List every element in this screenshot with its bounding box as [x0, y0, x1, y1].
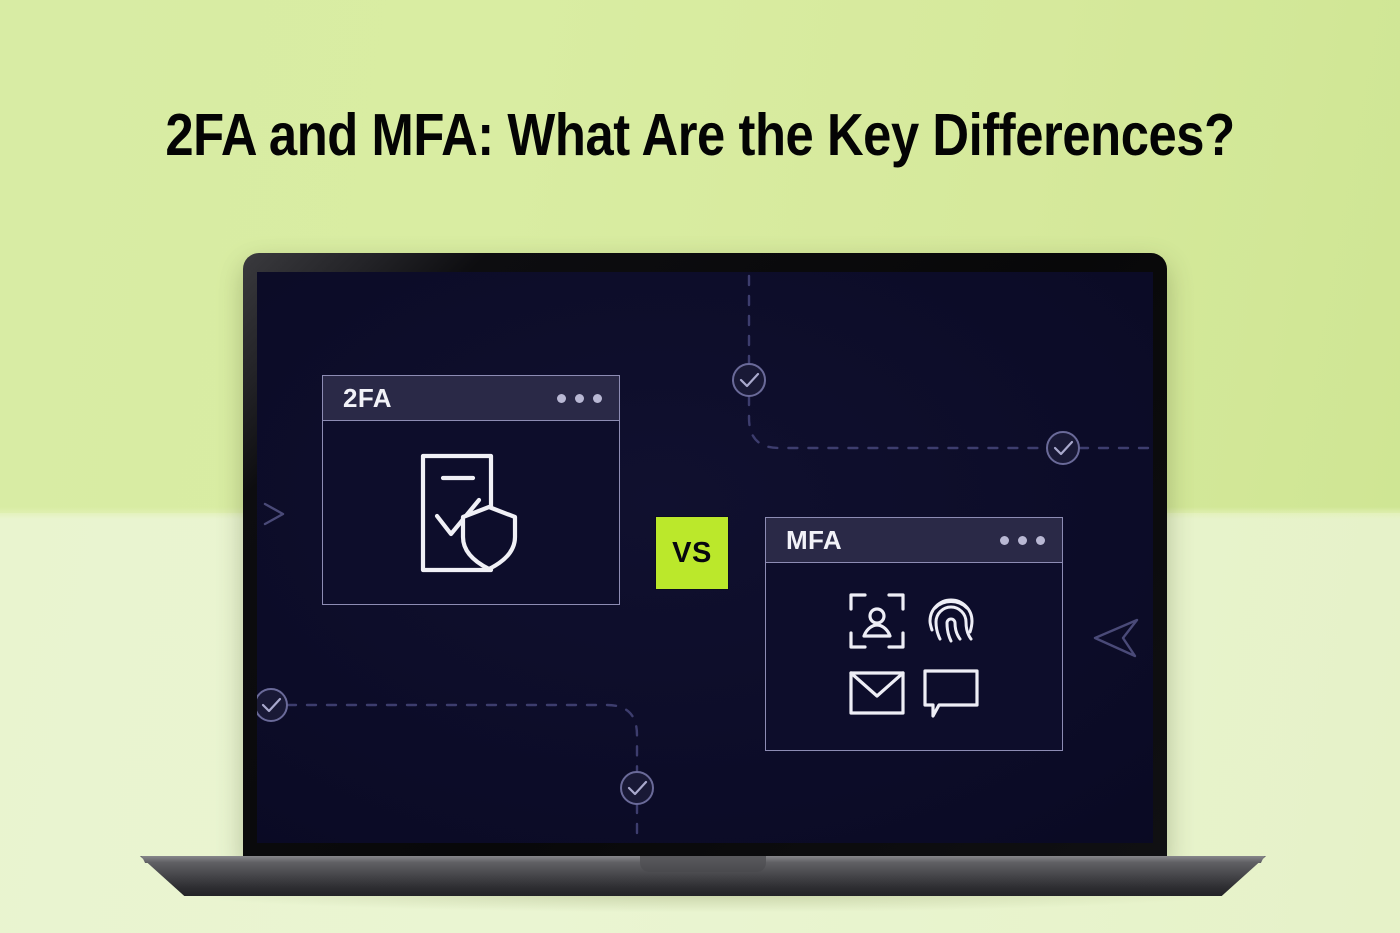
window-2fa-title: 2FA	[343, 383, 392, 414]
window-2fa[interactable]: 2FA	[322, 375, 620, 605]
mfa-icon-grid	[846, 590, 982, 724]
window-menu-dots-icon[interactable]	[1000, 536, 1045, 545]
poster-canvas: 2FA and MFA: What Are the Key Difference…	[0, 0, 1400, 933]
vs-badge: VS	[656, 517, 728, 589]
laptop-illustration: 2FA MFA	[0, 0, 1400, 933]
window-mfa-body	[765, 563, 1063, 751]
window-menu-dots-icon[interactable]	[557, 394, 602, 403]
window-2fa-titlebar[interactable]: 2FA	[322, 375, 620, 421]
laptop-screen: 2FA MFA	[257, 272, 1153, 843]
envelope-icon	[848, 669, 906, 717]
vs-badge-label: VS	[672, 537, 712, 570]
face-scan-icon	[848, 592, 906, 650]
fingerprint-icon	[922, 592, 980, 650]
chevron-right-icon	[265, 504, 283, 524]
laptop-base-notch	[640, 856, 766, 872]
document-check-shield-icon	[417, 450, 525, 576]
send-triangle-icon	[1095, 620, 1137, 656]
window-mfa-titlebar[interactable]: MFA	[765, 517, 1063, 563]
speech-bubble-icon	[922, 667, 980, 719]
window-2fa-body	[322, 421, 620, 605]
window-mfa-title: MFA	[786, 525, 842, 556]
window-mfa[interactable]: MFA	[765, 517, 1063, 751]
